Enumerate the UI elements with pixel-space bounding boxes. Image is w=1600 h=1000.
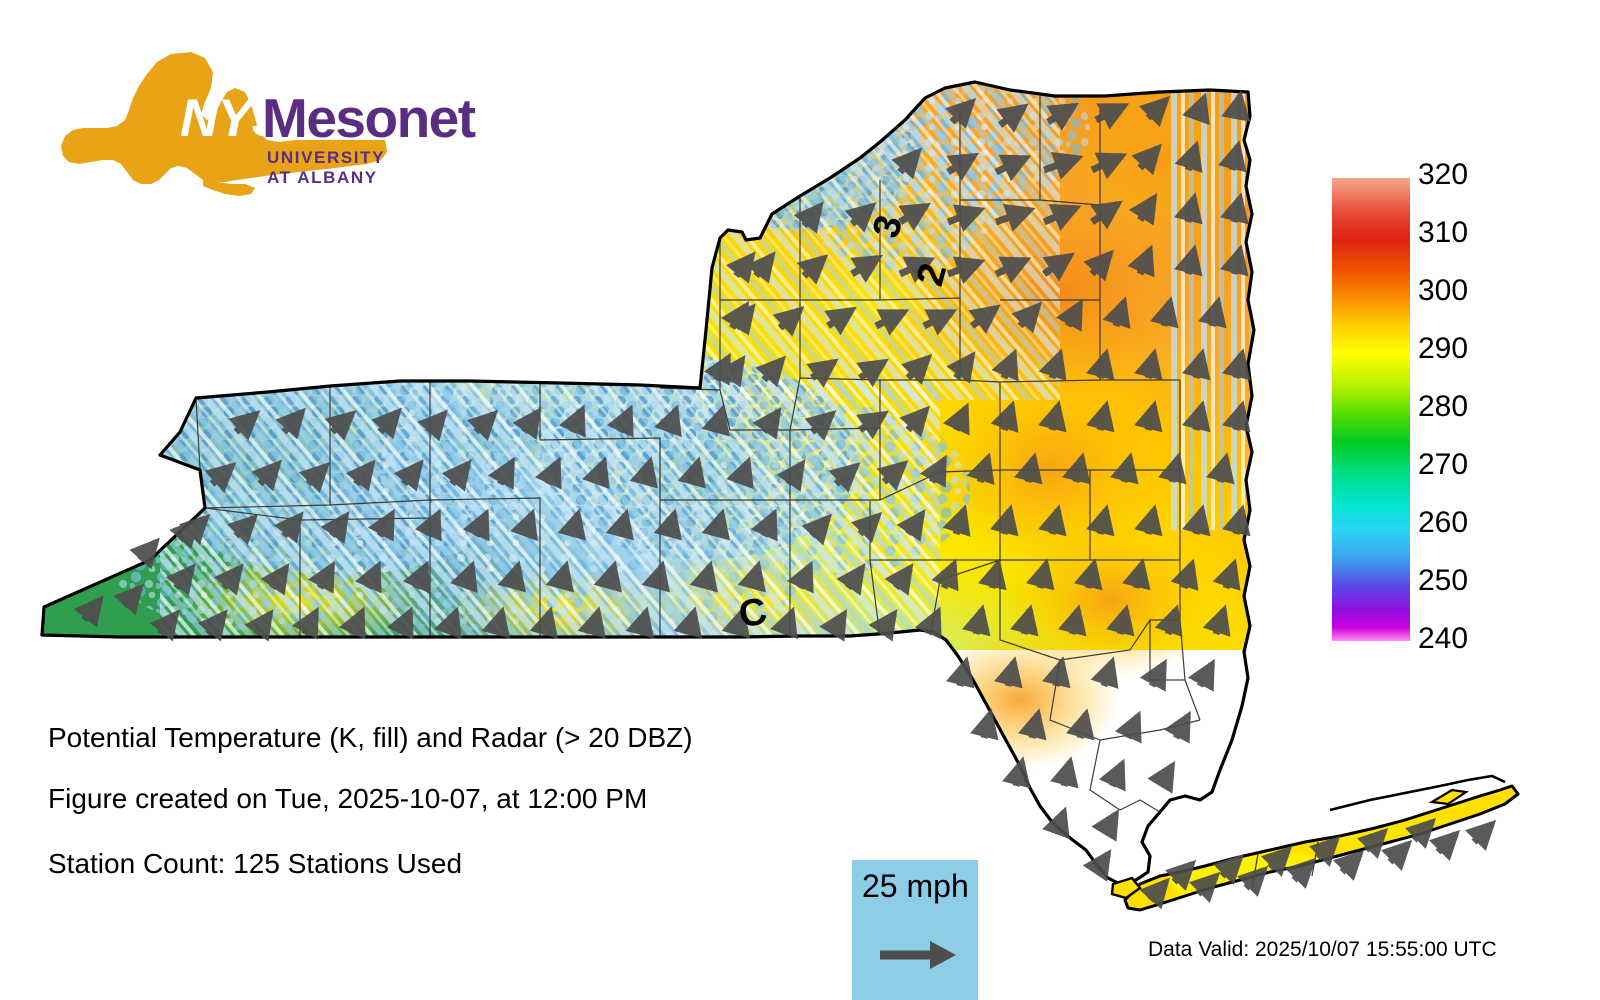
colorbar-tick-270: 270 — [1418, 450, 1468, 480]
wind-legend-label: 25 mph — [862, 868, 969, 905]
colorbar-tick-300: 300 — [1418, 276, 1468, 306]
logo-mesonet-text: Mesonet — [262, 86, 475, 150]
colorbar-tick-labels: 320 310 300 290 280 270 260 250 240 — [1418, 160, 1538, 660]
colorbar-tick-310: 310 — [1418, 218, 1468, 248]
temperature-colorbar — [1332, 178, 1410, 641]
nys-mesonet-logo: NYS Mesonet UNIVERSITY AT ALBANY — [55, 48, 400, 198]
colorbar-tick-320: 320 — [1418, 160, 1468, 190]
right-arrow-icon — [878, 938, 958, 972]
colorbar-gradient — [1332, 178, 1410, 641]
colorbar-tick-280: 280 — [1418, 392, 1468, 422]
figure-created-text: Figure created on Tue, 2025-10-07, at 12… — [48, 783, 647, 815]
figure-title: Potential Temperature (K, fill) and Rada… — [48, 722, 693, 754]
colorbar-tick-250: 250 — [1418, 566, 1468, 596]
colorbar-tick-240: 240 — [1418, 624, 1468, 654]
colorbar-tick-290: 290 — [1418, 334, 1468, 364]
station-count-text: Station Count: 125 Stations Used — [48, 848, 462, 880]
wind-speed-legend: 25 mph — [852, 860, 978, 1000]
data-valid-timestamp: Data Valid: 2025/10/07 15:55:00 UTC — [1148, 938, 1497, 962]
colorbar-tick-260: 260 — [1418, 508, 1468, 538]
logo-subtitle-text: UNIVERSITY AT ALBANY — [267, 148, 400, 188]
